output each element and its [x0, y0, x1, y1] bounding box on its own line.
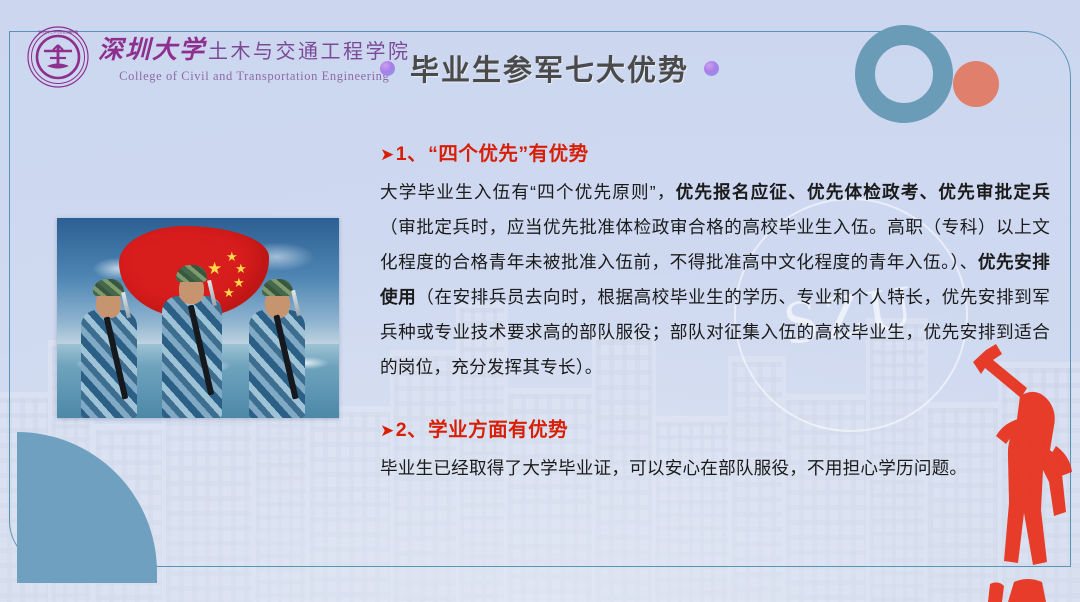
title-bullet-right-icon	[704, 61, 719, 76]
content-body: ➤1、“四个优先”有优势 大学毕业生入伍有“四个优先原则”，优先报名应征、优先体…	[380, 143, 1050, 484]
section-1: ➤1、“四个优先”有优势 大学毕业生入伍有“四个优先原则”，优先报名应征、优先体…	[380, 143, 1050, 385]
page-title: 毕业生参军七大优势	[410, 47, 689, 89]
section-1-title: “四个优先”有优势	[428, 143, 589, 166]
brand-english-name: College of Civil and Transportation Engi…	[98, 69, 411, 84]
body-text: 毕业生已经取得了大学毕业证，可以安心在部队服役，不用担心学历问题。	[380, 458, 967, 478]
section-1-paragraph: 大学毕业生入伍有“四个优先原则”，优先报名应征、优先体检政考、优先审批定兵（审批…	[380, 175, 1050, 385]
body-text: （审批定兵时，应当优先批准体检政审合格的高校毕业生入伍。高职（专科）以上文化程度…	[380, 217, 1050, 272]
section-1-heading: ➤1、“四个优先”有优势	[380, 143, 1050, 166]
soldiers-photo: ★ ★ ★ ★ ★	[57, 218, 339, 418]
teal-ring-icon	[855, 25, 953, 123]
section-2-title: 学业方面有优势	[428, 419, 568, 442]
slide-title-row: 毕业生参军七大优势	[380, 47, 719, 89]
body-text: 大学毕业生入伍有“四个优先原则”，	[380, 182, 676, 202]
salmon-dot-icon	[953, 61, 999, 107]
body-text: （在安排兵员去向时，根据高校毕业生的学历、专业和个人特长，优先安排到军兵种或专业…	[380, 287, 1050, 377]
brand-names: 深圳大学 土木与交通工程学院	[98, 30, 411, 66]
section-2-paragraph: 毕业生已经取得了大学毕业证，可以安心在部队服役，不用担心学历问题。	[380, 452, 1050, 484]
section-2: ➤2、学业方面有优势 毕业生已经取得了大学毕业证，可以安心在部队服役，不用担心学…	[380, 419, 1050, 483]
arrow-bullet-icon: ➤	[380, 146, 395, 163]
svg-text:深圳大学土木与交通工程学院: 深圳大学土木与交通工程学院	[38, 29, 78, 34]
university-seal-icon: 深圳大学土木与交通工程学院	[27, 26, 89, 88]
slide-root: SZU 深圳大学土木与交通工程学院 深圳大学	[0, 0, 1080, 602]
title-bullet-left-icon	[380, 61, 395, 76]
emphasis-text: 优先报名应征、优先体检政考、优先审批定兵	[676, 182, 1050, 202]
brand-lockup: 深圳大学土木与交通工程学院 深圳大学 土木与交通工程学院 College of …	[27, 26, 411, 88]
arrow-bullet-icon: ➤	[380, 422, 395, 439]
section-1-number: 1、	[396, 143, 427, 166]
section-2-number: 2、	[396, 419, 427, 442]
brand-main-name: 深圳大学	[98, 30, 206, 66]
section-2-heading: ➤2、学业方面有优势	[380, 419, 1050, 442]
